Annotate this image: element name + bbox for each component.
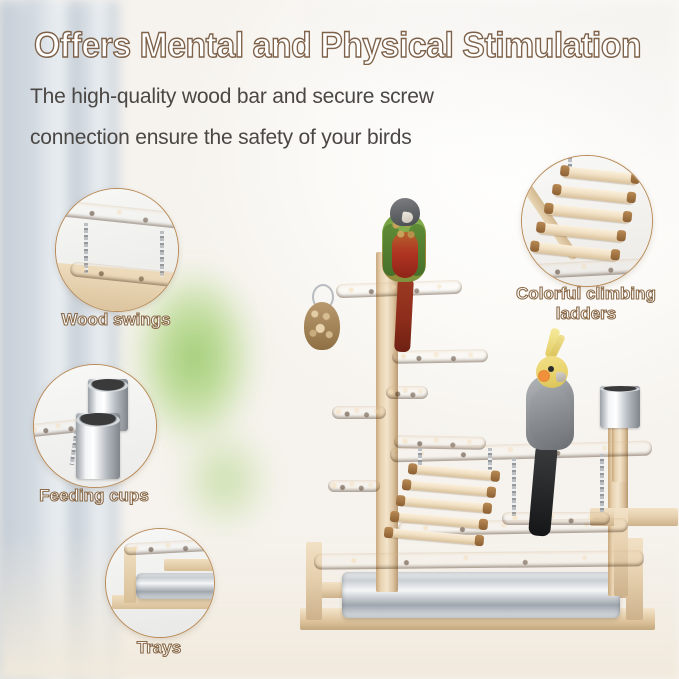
tray-post <box>124 547 136 603</box>
callout-label-wood-swings: Wood swings <box>40 310 192 330</box>
pine-cone-toy <box>304 302 340 350</box>
callout-label-feeding-cups: Feeding cups <box>18 486 170 506</box>
ladder-rung <box>398 496 490 513</box>
subtitle-line-1: The high-quality wood bar and secure scr… <box>30 84 650 110</box>
branch-stub-right <box>386 386 428 399</box>
cup-rim-upper <box>88 379 128 392</box>
cockatiel-tail <box>528 443 558 537</box>
callout-image-trays <box>105 528 215 638</box>
ladder-bottom-branch <box>521 257 653 280</box>
cup-rim-lower <box>76 413 120 427</box>
callout-image-feeding-cups <box>33 364 157 488</box>
branch-perch-long-lower <box>314 550 644 569</box>
ladder-rung <box>404 480 494 497</box>
stainless-feeding-cup <box>600 386 640 428</box>
swing-chain-left <box>512 458 516 516</box>
product-infographic: Offers Mental and Physical Stimulation T… <box>0 0 679 679</box>
cockatiel-wing <box>530 388 570 446</box>
callout-image-climbing-ladders <box>521 155 653 287</box>
swing-top-bar <box>55 199 179 231</box>
ladder-chain-right <box>488 448 492 470</box>
bird-cockatiel <box>526 342 578 542</box>
callout-label-trays: Trays <box>86 638 232 658</box>
cockatiel-eye <box>548 366 554 372</box>
bird-conure <box>382 198 428 354</box>
ladder-rung <box>538 223 625 243</box>
tray-shelf <box>164 559 215 571</box>
callout-label-climbing-ladders-line2: ladders <box>496 304 676 324</box>
subtitle-line-2: connection ensure the safety of your bir… <box>30 125 650 151</box>
cockatiel-cheek-patch <box>538 370 550 382</box>
feeding-cup-lower <box>76 413 120 479</box>
ladder-rung <box>410 464 498 481</box>
stainless-tray-detail <box>136 573 215 599</box>
tray-branch <box>124 538 215 555</box>
callout-label-climbing-ladders-line1: Colorful climbing <box>496 284 676 304</box>
swing-chain-right <box>600 454 604 512</box>
page-title: Offers Mental and Physical Stimulation <box>34 24 620 68</box>
ladder-rung <box>554 185 635 204</box>
branch-stub-low-left <box>328 480 380 492</box>
ladder-chain-right <box>626 155 630 170</box>
branch-stub-left <box>332 406 386 419</box>
callout-image-wood-swings <box>55 188 179 312</box>
conure-tail <box>394 278 414 353</box>
ladder-rung <box>546 204 631 224</box>
cup-rim <box>600 386 640 392</box>
